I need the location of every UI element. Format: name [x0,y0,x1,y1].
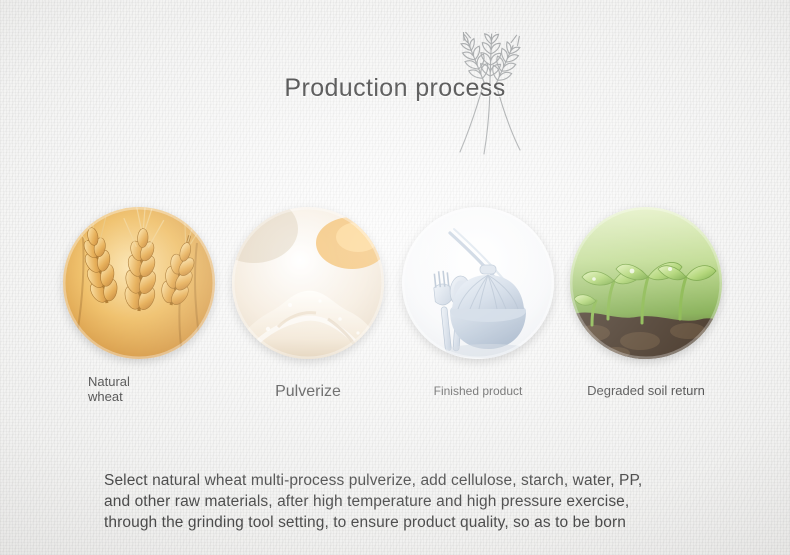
step-label-degraded-soil-return: Degraded soil return [541,384,751,399]
page-title: Production process [0,74,790,103]
step-pulverize: Pulverize [232,207,384,359]
production-process-infographic: Production process [0,0,790,555]
seedling-sprouts-photo [570,207,722,359]
step-natural-wheat: Natural wheat [63,207,215,359]
description-line-2: and other raw materials, after high temp… [104,491,724,512]
description-line-1: Select natural wheat multi-process pulve… [104,470,724,491]
step-finished-product: Finished product [402,207,554,359]
tableware-bowl-photo [402,207,554,359]
header: Production process [0,46,790,166]
wheat-stalks-photo [63,207,215,359]
description-line-3: through the grinding tool setting, to en… [104,512,724,533]
flour-powder-photo [232,207,384,359]
description-paragraph: Select natural wheat multi-process pulve… [104,470,724,533]
step-degraded-soil-return: Degraded soil return [570,207,722,359]
